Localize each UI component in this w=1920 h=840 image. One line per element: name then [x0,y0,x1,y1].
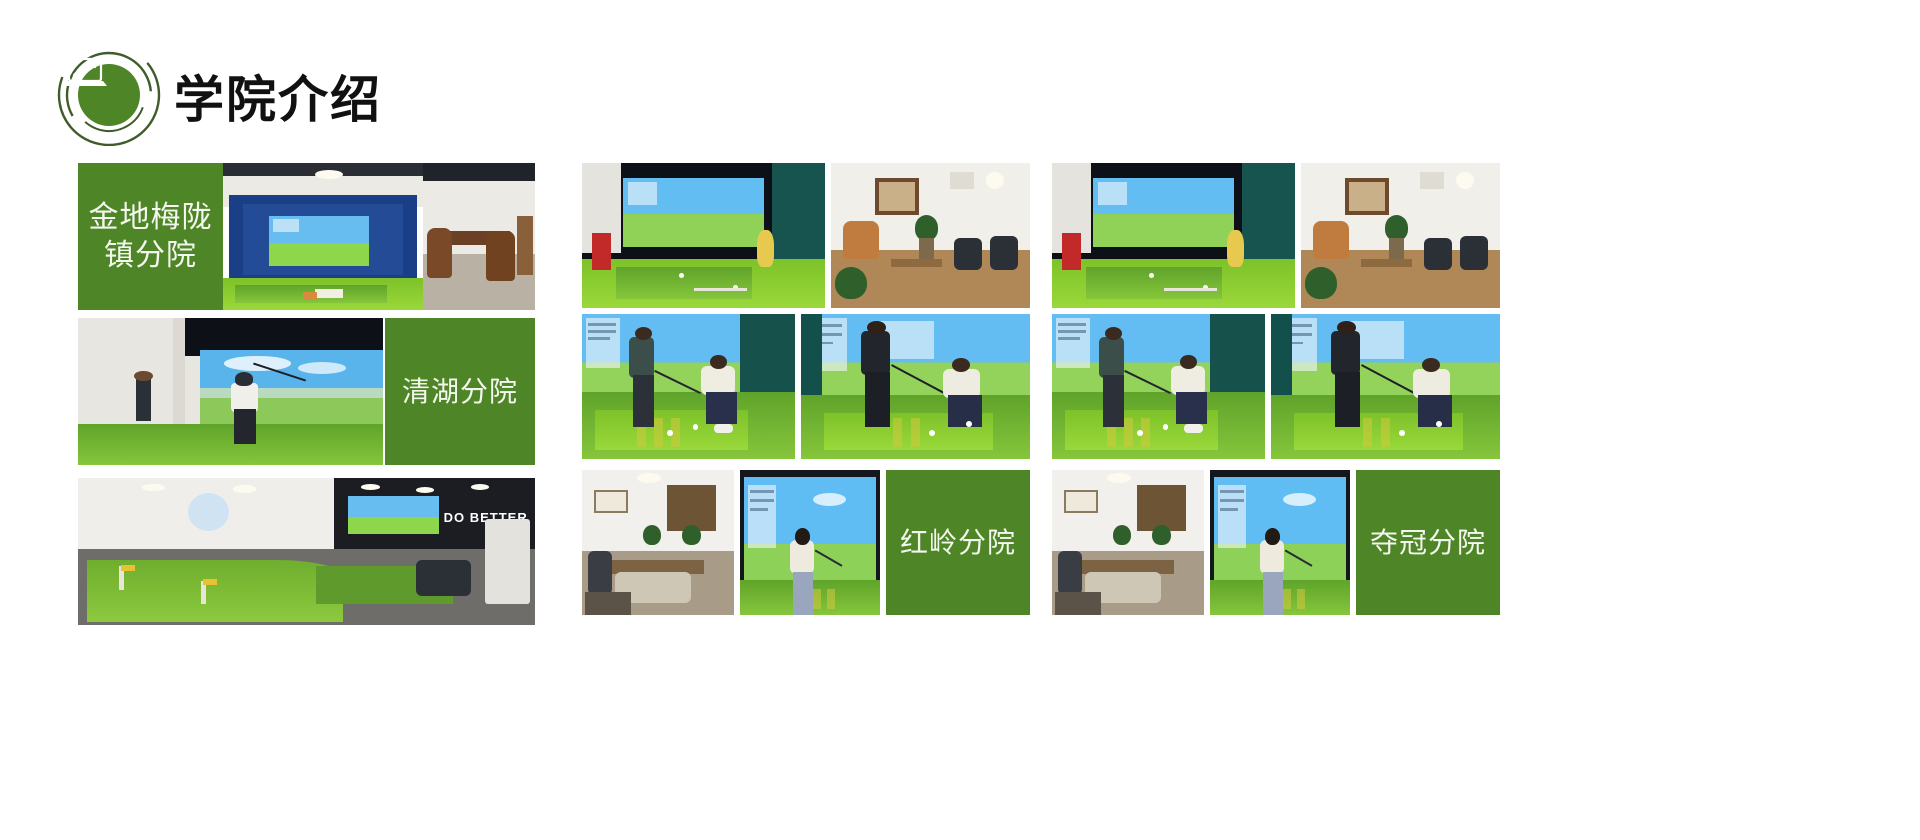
slide-canvas: 学院介绍 金地梅陇镇分院 [0,0,1920,840]
photo-ga-student [740,470,880,615]
academy-logo [54,42,170,146]
photo-gb-bay [1052,163,1295,308]
label-jindi-meilongzhen: 金地梅陇镇分院 [78,163,223,310]
photo-left-lounge [423,163,535,310]
photo-ga-coach-right [801,314,1030,459]
laptop-chart-icon [54,42,116,104]
label-qinghu: 清湖分院 [385,318,535,465]
photo-ga-bay [582,163,825,308]
photo-gb-office [1052,470,1204,615]
photo-ga-coach-left [582,314,795,459]
photo-left-sim-bay [223,163,423,310]
label-duoguan: 夺冠分院 [1356,470,1500,615]
photo-ga-lounge [831,163,1030,308]
photo-gb-coach-left [1052,314,1265,459]
photo-gb-coach-right [1271,314,1500,459]
photo-ga-office [582,470,734,615]
photo-left-putting-hall: DO BETTER [78,478,535,625]
photo-left-swing [78,318,383,465]
photo-gb-lounge [1301,163,1500,308]
label-hongling: 红岭分院 [886,470,1030,615]
photo-gb-student [1210,470,1350,615]
slide-header: 学院介绍 [46,38,566,148]
page-title: 学院介绍 [174,60,382,132]
